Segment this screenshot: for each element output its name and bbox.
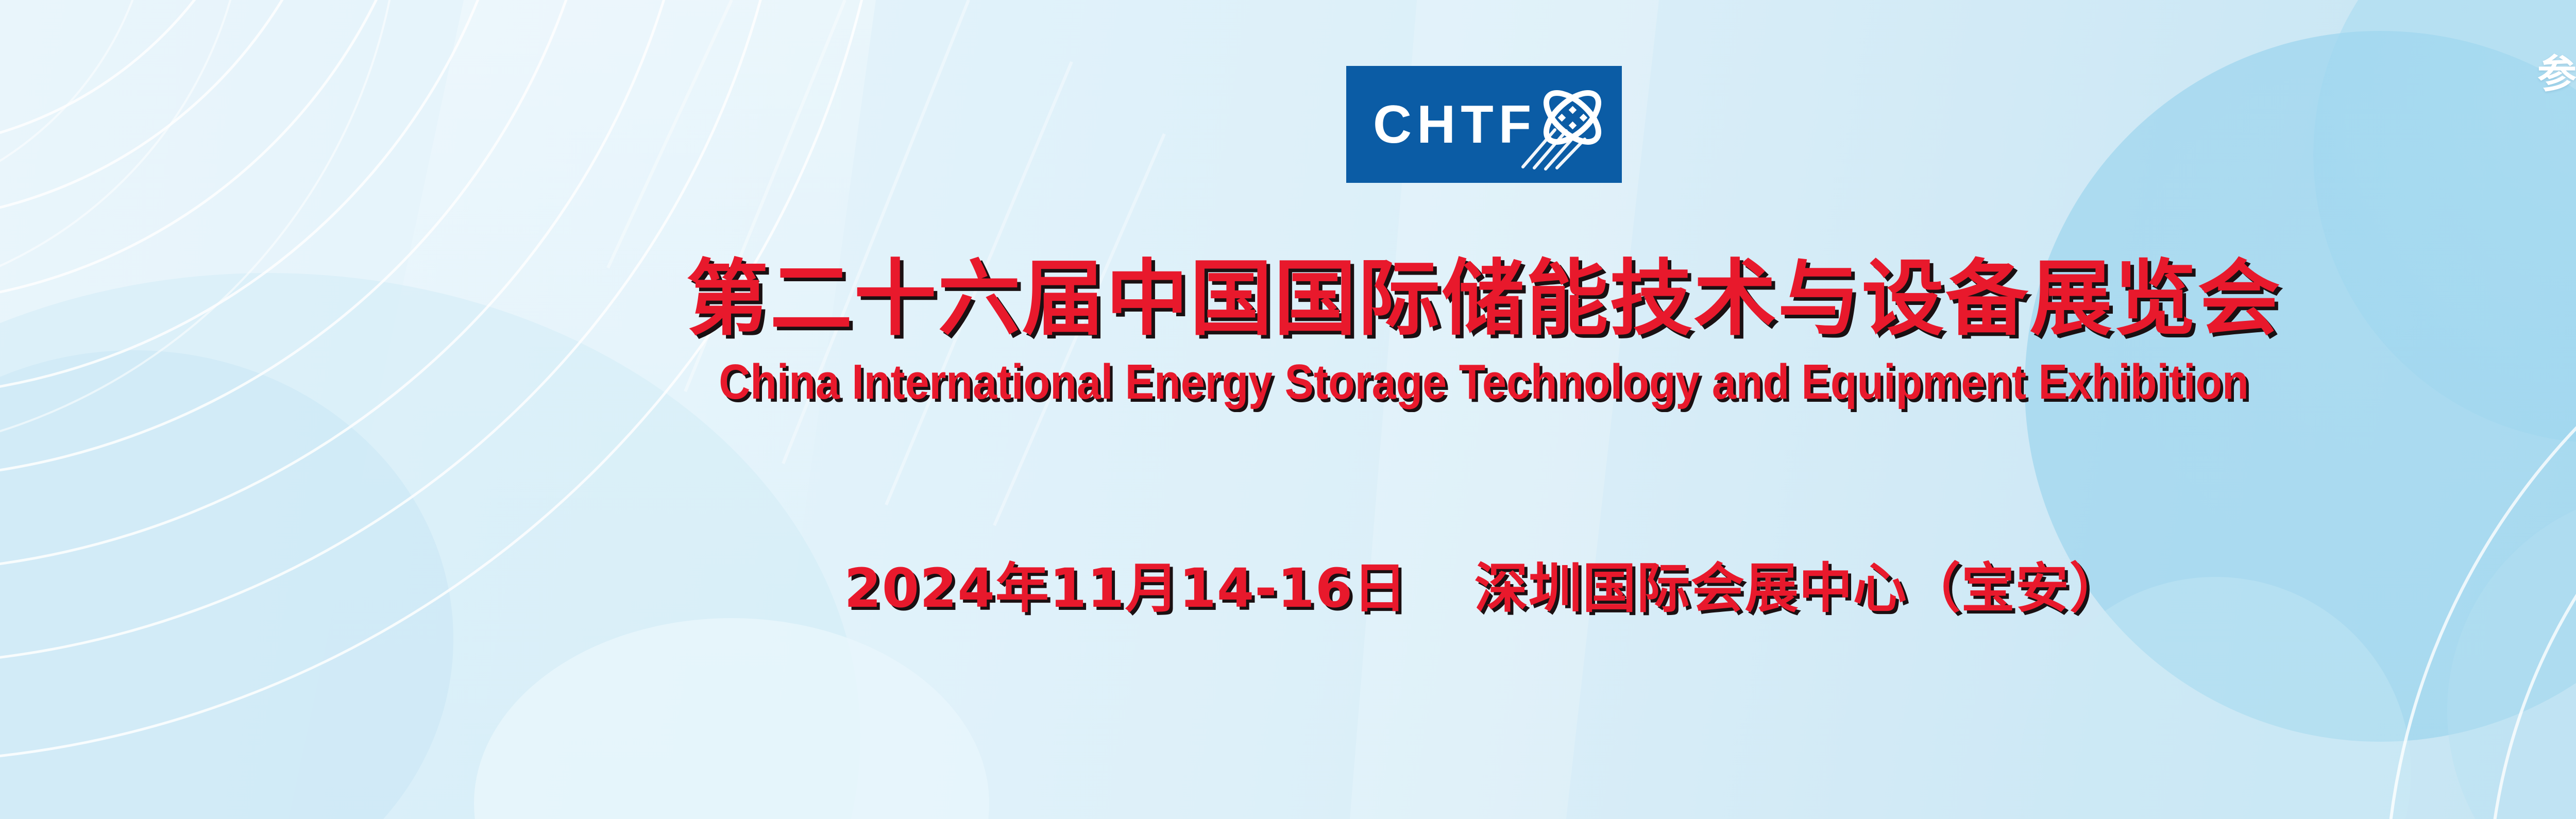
page-title-cn: 第二十六届中国国际储能技术与设备展览会 (0, 258, 2576, 340)
orbit-atom-icon (1517, 80, 1609, 170)
light-sweep-shape (289, 0, 876, 819)
chtf-logo[interactable]: CHTF (1346, 66, 1622, 183)
bottom-center-blob (474, 618, 989, 819)
event-venue: 深圳国际会展中心（宝安） (1475, 557, 2124, 620)
orbit-speed-lines (1523, 130, 1585, 169)
exhibition-banner: CHTF 参展：400 894 0002 第二十六届中国国际储能技术与设备展 (0, 0, 2576, 819)
page-title-en: China International Energy Storage Techn… (178, 357, 2576, 407)
headline-block: 第二十六届中国国际储能技术与设备展览会 China International … (0, 258, 2576, 407)
event-date-venue: 2024年11月14-16日 深圳国际会展中心（宝安） (0, 561, 2576, 615)
chtf-wordmark: CHTF (1373, 98, 1536, 151)
right-circle-lower (2447, 489, 2576, 819)
event-date: 2024年11月14-16日 (844, 557, 1407, 620)
background-shapes-svg (0, 0, 2576, 819)
background-decoration (0, 0, 2576, 819)
contact-phone[interactable]: 参展：400 894 0002 (2537, 42, 2576, 99)
